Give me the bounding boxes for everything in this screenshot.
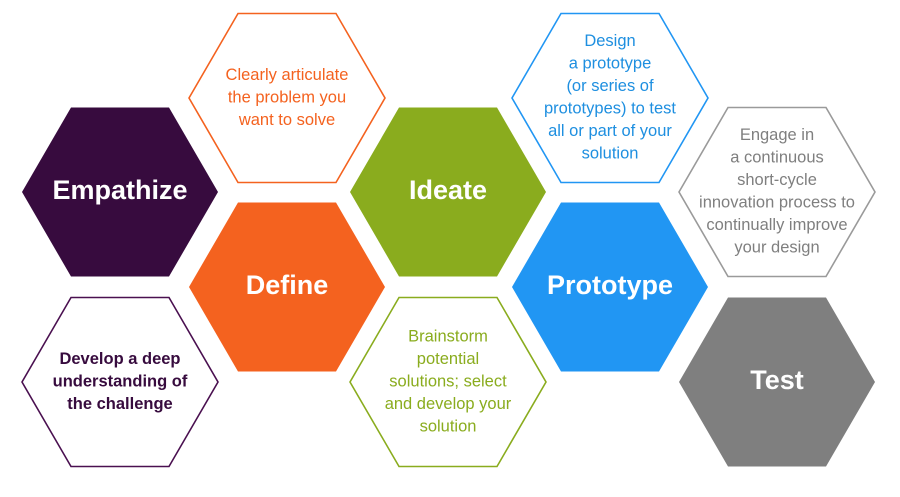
test-description-line-4: innovation process to <box>699 194 855 212</box>
stage-hexagon-ideate[interactable]: Ideate <box>350 108 546 277</box>
define-description-line-1: Clearly articulate <box>226 66 349 84</box>
prototype-description-line-1: Design <box>584 32 635 50</box>
test-description-line-2: a continuous <box>730 149 824 167</box>
ideate-description-line-2: potential <box>417 350 479 368</box>
stage-label-ideate: Ideate <box>409 175 487 205</box>
hexagon-diagram-canvas: Clearly articulatethe problem youwant to… <box>0 0 900 497</box>
test-description-line-1: Engage in <box>740 126 814 144</box>
empathize-description[interactable]: Develop a deepunderstanding ofthe challe… <box>22 298 218 467</box>
define-description-line-3: want to solve <box>238 111 335 129</box>
prototype-description[interactable]: Designa prototype(or series ofprototypes… <box>512 14 708 183</box>
ideate-description-line-5: solution <box>420 417 477 435</box>
empathize-description-line-2: understanding of <box>53 372 188 390</box>
ideate-description-line-4: and develop your <box>385 395 512 413</box>
define-description[interactable]: Clearly articulatethe problem youwant to… <box>189 14 385 183</box>
define-description-line-2: the problem you <box>228 88 346 106</box>
stage-hexagon-define[interactable]: Define <box>189 203 385 372</box>
test-description-line-5: continually improve <box>706 216 847 234</box>
stage-hexagon-prototype[interactable]: Prototype <box>512 203 708 372</box>
stage-label-empathize: Empathize <box>52 175 187 205</box>
prototype-description-line-5: all or part of your <box>548 122 672 140</box>
empathize-description-line-3: the challenge <box>67 395 172 413</box>
empathize-description-line-1: Develop a deep <box>59 350 180 368</box>
prototype-description-line-3: (or series of <box>566 77 654 95</box>
test-description[interactable]: Engage ina continuousshort-cycleinnovati… <box>679 108 875 277</box>
prototype-description-line-2: a prototype <box>569 55 652 73</box>
prototype-description-line-6: solution <box>582 145 639 163</box>
stage-label-prototype: Prototype <box>547 270 673 300</box>
ideate-description[interactable]: Brainstormpotentialsolutions; selectand … <box>350 298 546 467</box>
stage-hexagon-empathize[interactable]: Empathize <box>22 108 218 277</box>
design-thinking-diagram: Clearly articulatethe problem youwant to… <box>0 0 900 497</box>
test-description-line-3: short-cycle <box>737 171 817 189</box>
stage-label-test: Test <box>750 365 804 395</box>
ideate-description-line-1: Brainstorm <box>408 327 488 345</box>
ideate-description-line-3: solutions; select <box>389 372 507 390</box>
stage-label-define: Define <box>246 270 329 300</box>
stage-hexagon-test[interactable]: Test <box>679 298 875 467</box>
test-description-line-6: your design <box>734 239 819 257</box>
prototype-description-line-4: prototypes) to test <box>544 100 676 118</box>
